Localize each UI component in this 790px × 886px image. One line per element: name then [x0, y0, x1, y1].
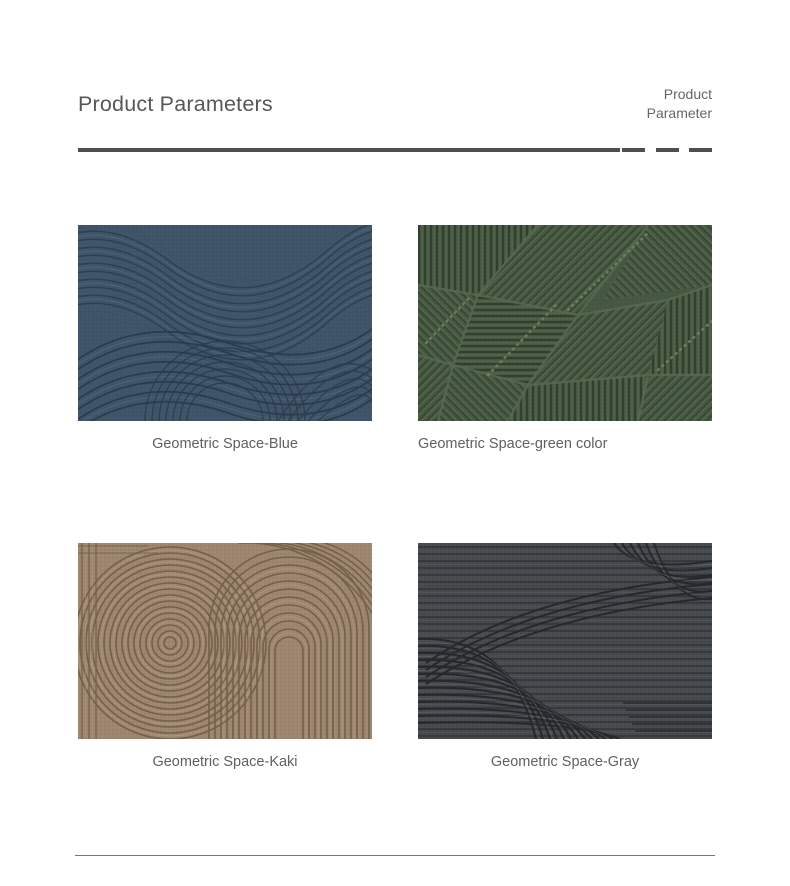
divider-dash	[622, 148, 645, 152]
product-row: Geometric Space-Blue	[78, 225, 712, 543]
product-image-gray[interactable]	[418, 543, 712, 739]
product-caption-blue: Geometric Space-Blue	[78, 435, 372, 454]
header-subtitle-line-1: Product	[582, 85, 712, 104]
footer-divider	[75, 855, 715, 856]
product-image-kaki[interactable]	[78, 543, 372, 739]
product-caption-green: Geometric Space-green color	[418, 435, 648, 454]
header-subtitle-line-2: Parameter	[582, 104, 712, 123]
header-subtitle: Product Parameter	[582, 85, 712, 123]
header-divider-dashes	[622, 148, 712, 152]
divider-dash	[689, 148, 712, 152]
product-card-gray[interactable]: Geometric Space-Gray	[418, 543, 712, 772]
product-row: Geometric Space-Kaki	[78, 543, 712, 861]
product-card-green[interactable]: Geometric Space-green color	[418, 225, 712, 454]
header-divider	[78, 148, 712, 153]
header-divider-solid	[78, 148, 620, 152]
product-caption-kaki: Geometric Space-Kaki	[78, 753, 372, 772]
product-caption-gray: Geometric Space-Gray	[418, 753, 712, 772]
product-image-blue[interactable]	[78, 225, 372, 421]
page-title: Product Parameters	[78, 92, 273, 117]
product-card-blue[interactable]: Geometric Space-Blue	[78, 225, 372, 454]
divider-dash	[656, 148, 679, 152]
product-grid: Geometric Space-Blue	[78, 225, 712, 861]
page-header: Product Parameters Product Parameter	[78, 78, 712, 160]
product-card-kaki[interactable]: Geometric Space-Kaki	[78, 543, 372, 772]
product-image-green[interactable]	[418, 225, 712, 421]
